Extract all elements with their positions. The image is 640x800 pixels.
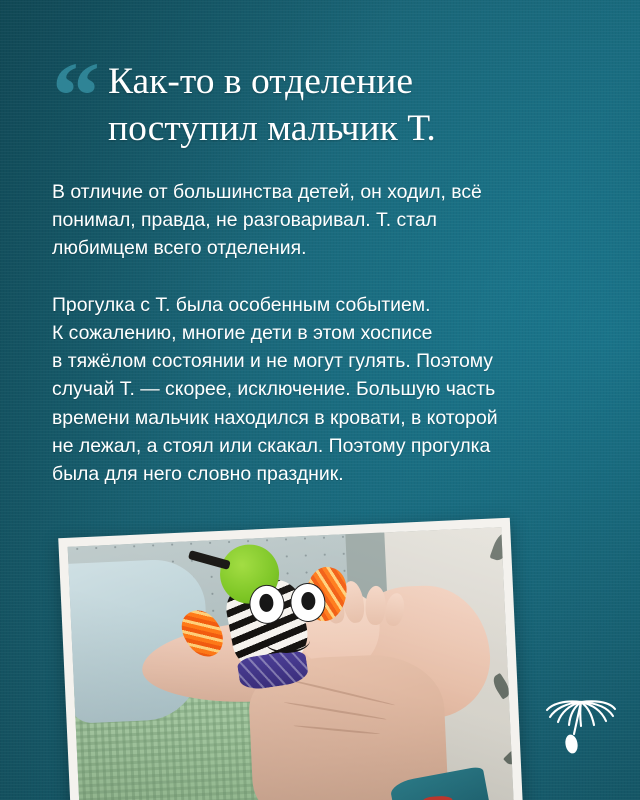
photo-frame — [58, 518, 523, 800]
paragraph-2: Прогулка с Т. была особенным событием. К… — [52, 291, 597, 489]
paragraph-1: В отличие от большинства детей, он ходил… — [52, 178, 597, 263]
dandelion-seed-icon — [544, 676, 618, 762]
page-title: Как-то в отделение поступил мальчик Т. — [98, 58, 436, 153]
body-copy: В отличие от большинства детей, он ходил… — [52, 178, 597, 488]
quotation-mark-icon: “ — [52, 60, 98, 133]
quote-block: “ Как-то в отделение поступил мальчик Т. — [52, 54, 600, 153]
photo-image — [68, 527, 514, 800]
photo-shading-overlay — [68, 527, 514, 800]
